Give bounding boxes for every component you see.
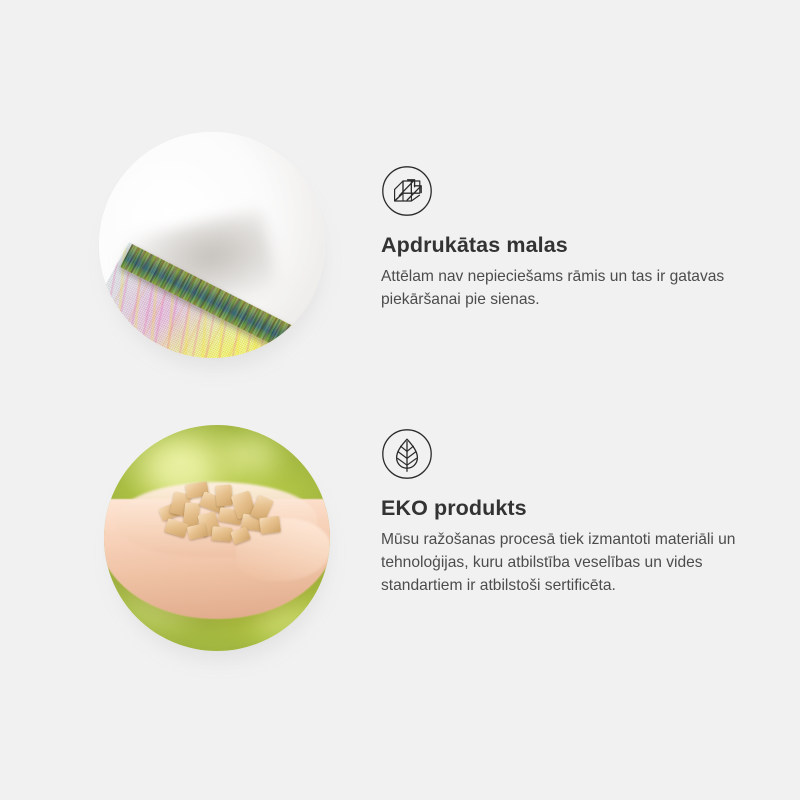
canvas-photo-scene [99, 132, 325, 358]
feature-block-eco-product: EKO produkts Mūsu ražošanas procesā tiek… [0, 415, 800, 695]
feature-text-eco-product: EKO produkts Mūsu ražošanas procesā tiek… [381, 428, 751, 597]
feature-page: Apdrukātas malas Attēlam nav nepieciešam… [0, 0, 800, 800]
feature-title: EKO produkts [381, 496, 751, 521]
feature-block-printed-edges: Apdrukātas malas Attēlam nav nepieciešam… [0, 120, 800, 400]
feature-text-printed-edges: Apdrukātas malas Attēlam nav nepieciešam… [381, 165, 751, 311]
circular-photo-canvas-corner [99, 132, 325, 358]
bokeh-highlight [224, 435, 278, 475]
feature-description: Mūsu ražošanas procesā tiek izmantoti ma… [381, 528, 739, 597]
wrapped-canvas-edge-icon [381, 165, 433, 217]
eco-photo-scene [104, 425, 330, 651]
wood-chips-pile [156, 479, 286, 551]
feature-image-eco-product [104, 425, 336, 657]
leaf-icon [381, 428, 433, 480]
feature-image-printed-edges [99, 132, 331, 364]
feature-description: Attēlam nav nepieciešams rāmis un tas ir… [381, 265, 739, 311]
feature-title: Apdrukātas malas [381, 233, 751, 258]
circular-photo-hands-wood-chips [104, 425, 330, 651]
